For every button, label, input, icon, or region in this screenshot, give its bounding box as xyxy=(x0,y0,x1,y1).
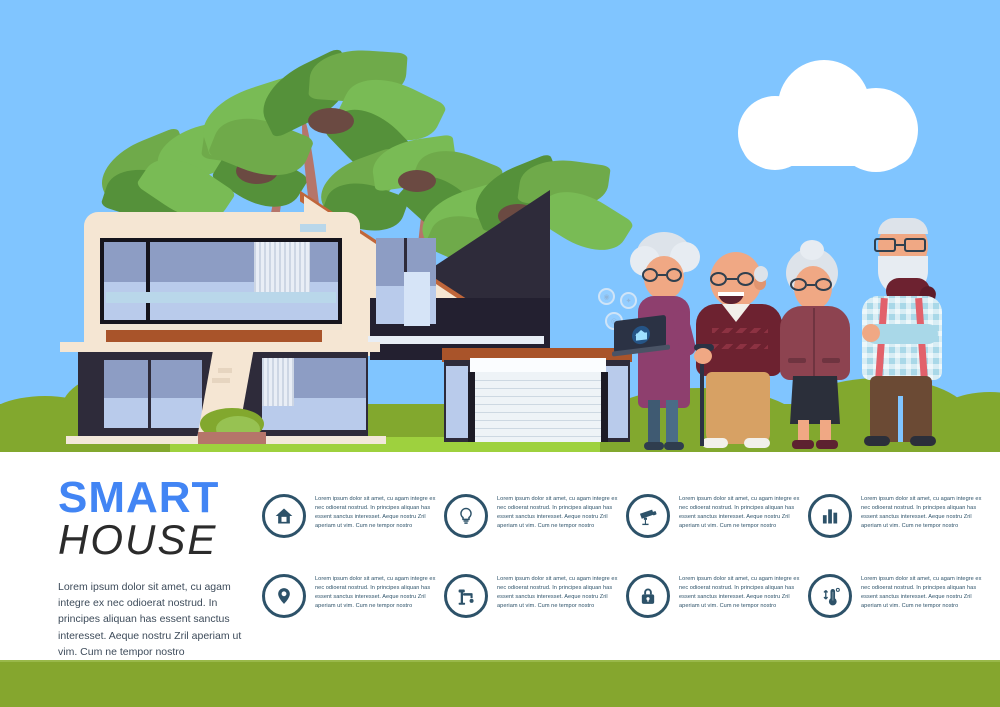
garage-door-head xyxy=(470,358,606,372)
feature-text: Lorem ipsum dolor sit amet, cu agam inte… xyxy=(497,572,621,611)
feature-item-climate[interactable]: Lorem ipsum dolor sit amet, cu agam inte… xyxy=(808,572,990,652)
p4-leg-gap xyxy=(898,396,903,442)
feature-text: Lorem ipsum dolor sit amet, cu agam inte… xyxy=(315,492,439,531)
p3-shoe-2 xyxy=(816,440,838,449)
p3-glasses xyxy=(790,278,836,291)
brand-title-smart: SMART xyxy=(58,477,258,519)
feature-item-water[interactable]: Lorem ipsum dolor sit amet, cu agam inte… xyxy=(444,572,626,652)
p2-glasses xyxy=(710,272,760,286)
feature-text: Lorem ipsum dolor sit amet, cu agam inte… xyxy=(679,572,803,611)
bar-chart-icon[interactable] xyxy=(808,494,852,538)
feature-item-analytics[interactable]: Lorem ipsum dolor sit amet, cu agam inte… xyxy=(808,492,990,572)
p4-shoe-2 xyxy=(910,436,936,446)
p4-glasses xyxy=(874,238,930,252)
p2-trousers xyxy=(706,372,770,444)
feature-text: Lorem ipsum dolor sit amet, cu agam inte… xyxy=(497,492,621,531)
home-icon[interactable] xyxy=(262,494,306,538)
brand-block: SMART HOUSE Lorem ipsum dolor sit amet, … xyxy=(58,477,258,660)
bottom-green-band xyxy=(0,660,1000,707)
p2-shoe-2 xyxy=(744,438,770,448)
p4-hair xyxy=(878,218,928,234)
p3-shoe xyxy=(792,440,814,449)
p3-pocket-right xyxy=(822,358,840,363)
p3-pocket-left xyxy=(788,358,806,363)
laptop-home-icon xyxy=(636,329,647,340)
cctv-camera-icon[interactable] xyxy=(626,494,670,538)
p2-shoe xyxy=(702,438,728,448)
p3-bun xyxy=(800,240,824,260)
illustration-scene: ◉ ✦ ◎ xyxy=(0,0,1000,452)
p3-jacket xyxy=(780,306,850,380)
person-elderly-man-with-cane xyxy=(692,252,786,452)
faucet-tap-icon[interactable] xyxy=(444,574,488,618)
feature-text: Lorem ipsum dolor sit amet, cu agam inte… xyxy=(861,492,985,531)
feature-item-home[interactable]: Lorem ipsum dolor sit amet, cu agam inte… xyxy=(262,492,444,572)
green-band-highlight xyxy=(0,660,1000,662)
garage-side-glass-left xyxy=(446,366,468,438)
house-right-small-window xyxy=(404,272,430,326)
house-lower-mullion-left xyxy=(148,360,151,428)
thermometer-icon[interactable] xyxy=(808,574,852,618)
p2-teeth xyxy=(718,292,744,296)
p1-legs-2 xyxy=(666,400,678,446)
location-pin-icon[interactable] xyxy=(262,574,306,618)
p1-shoe xyxy=(644,442,664,450)
person-elderly-man-with-beard xyxy=(860,220,946,452)
p1-glasses xyxy=(642,268,686,282)
p1-shoe-2 xyxy=(664,442,684,450)
house-lower-window-left-sheen xyxy=(104,398,202,428)
feature-text: Lorem ipsum dolor sit amet, cu agam inte… xyxy=(679,492,803,531)
p3-skirt xyxy=(790,376,840,424)
content-panel: SMART HOUSE Lorem ipsum dolor sit amet, … xyxy=(0,452,1000,660)
laptop-with-home-app[interactable] xyxy=(614,318,670,358)
entry-planter xyxy=(198,432,266,444)
person-elderly-woman-in-skirt xyxy=(778,248,856,452)
garage-jamb-left xyxy=(468,372,475,442)
house-right-ledge xyxy=(368,336,544,344)
feature-item-lighting[interactable]: Lorem ipsum dolor sit amet, cu agam inte… xyxy=(444,492,626,572)
brand-title-house: HOUSE xyxy=(58,519,258,561)
p2-zigzag xyxy=(712,328,768,333)
feature-item-location[interactable]: Lorem ipsum dolor sit amet, cu agam inte… xyxy=(262,572,444,652)
p2-hand xyxy=(694,348,712,364)
garage-side-glass-right xyxy=(606,366,628,438)
house-upper-mullion xyxy=(146,242,150,320)
padlock-icon[interactable] xyxy=(626,574,670,618)
house-roof-vent xyxy=(300,224,326,232)
cloud xyxy=(738,60,918,160)
house-balcony-rail xyxy=(106,292,336,303)
p4-shoe xyxy=(864,436,890,446)
garage-jamb-right xyxy=(601,372,608,442)
smart-house-infographic: ◉ ✦ ◎ xyxy=(0,0,1000,707)
feature-item-security-lock[interactable]: Lorem ipsum dolor sit amet, cu agam inte… xyxy=(626,572,808,652)
brand-description: Lorem ipsum dolor sit amet, cu agam inte… xyxy=(58,579,244,660)
p4-hand xyxy=(862,324,880,342)
p3-jacket-seam xyxy=(813,308,815,378)
lightbulb-icon[interactable] xyxy=(444,494,488,538)
house-pillar-brick-2 xyxy=(212,378,230,383)
garage-roller-door[interactable] xyxy=(474,372,602,442)
feature-text: Lorem ipsum dolor sit amet, cu agam inte… xyxy=(861,572,985,611)
floating-wifi-icon: ◉ xyxy=(598,288,615,305)
p2-zigzag-2 xyxy=(712,344,768,349)
house-lower-blinds xyxy=(262,358,294,406)
house-pillar-brick-1 xyxy=(218,368,232,373)
feature-item-surveillance[interactable]: Lorem ipsum dolor sit amet, cu agam inte… xyxy=(626,492,808,572)
feature-grid: Lorem ipsum dolor sit amet, cu agam inte… xyxy=(262,492,992,652)
p1-legs xyxy=(648,400,660,446)
feature-text: Lorem ipsum dolor sit amet, cu agam inte… xyxy=(315,572,439,611)
